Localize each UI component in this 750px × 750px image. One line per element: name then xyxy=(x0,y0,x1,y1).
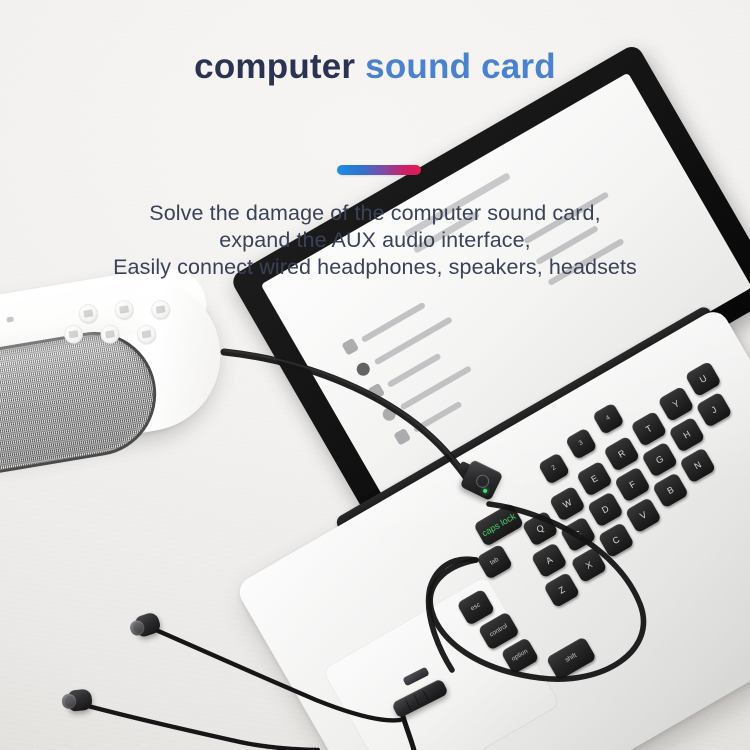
subtitle-line-1: Solve the damage of the computer sound c… xyxy=(0,200,750,227)
subtitle-line-3: Easily connect wired headphones, speaker… xyxy=(0,254,750,281)
page-title: computer sound card xyxy=(0,49,750,84)
title-dark-part: computer xyxy=(194,47,365,86)
title-blue-part: sound card xyxy=(365,47,556,86)
subtitle-block: Solve the damage of the computer sound c… xyxy=(0,200,750,281)
product-banner: esccontroloptiontabcaps lockshiftQAZWSXE… xyxy=(0,0,750,750)
background-vignette xyxy=(0,0,750,750)
subtitle-line-2: expand the AUX audio interface, xyxy=(0,227,750,254)
gradient-divider xyxy=(337,165,421,175)
